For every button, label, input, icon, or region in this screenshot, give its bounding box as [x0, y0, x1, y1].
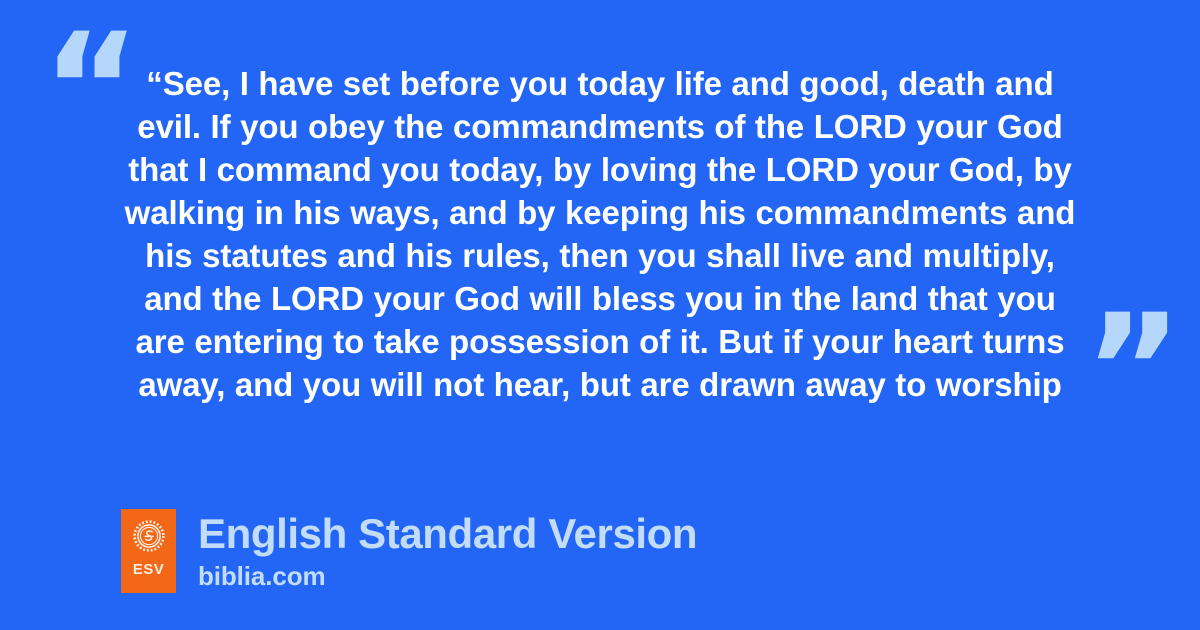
brand-text-group: English Standard Version biblia.com: [198, 509, 697, 591]
esv-logo-abbr: ESV: [133, 562, 164, 577]
brand-footer[interactable]: ESV English Standard Version biblia.com: [121, 509, 697, 593]
quote-text: “See, I have set before you today life a…: [120, 62, 1080, 406]
esv-seal-icon: [132, 519, 166, 553]
esv-logo: ESV: [121, 509, 176, 593]
quote-block: “See, I have set before you today life a…: [120, 62, 1080, 406]
bible-version-title: English Standard Version: [198, 510, 697, 558]
site-url[interactable]: biblia.com: [198, 561, 697, 591]
verse-card: “ “See, I have set before you today life…: [0, 0, 1200, 630]
closing-quote-icon: ”: [1084, 295, 1179, 445]
